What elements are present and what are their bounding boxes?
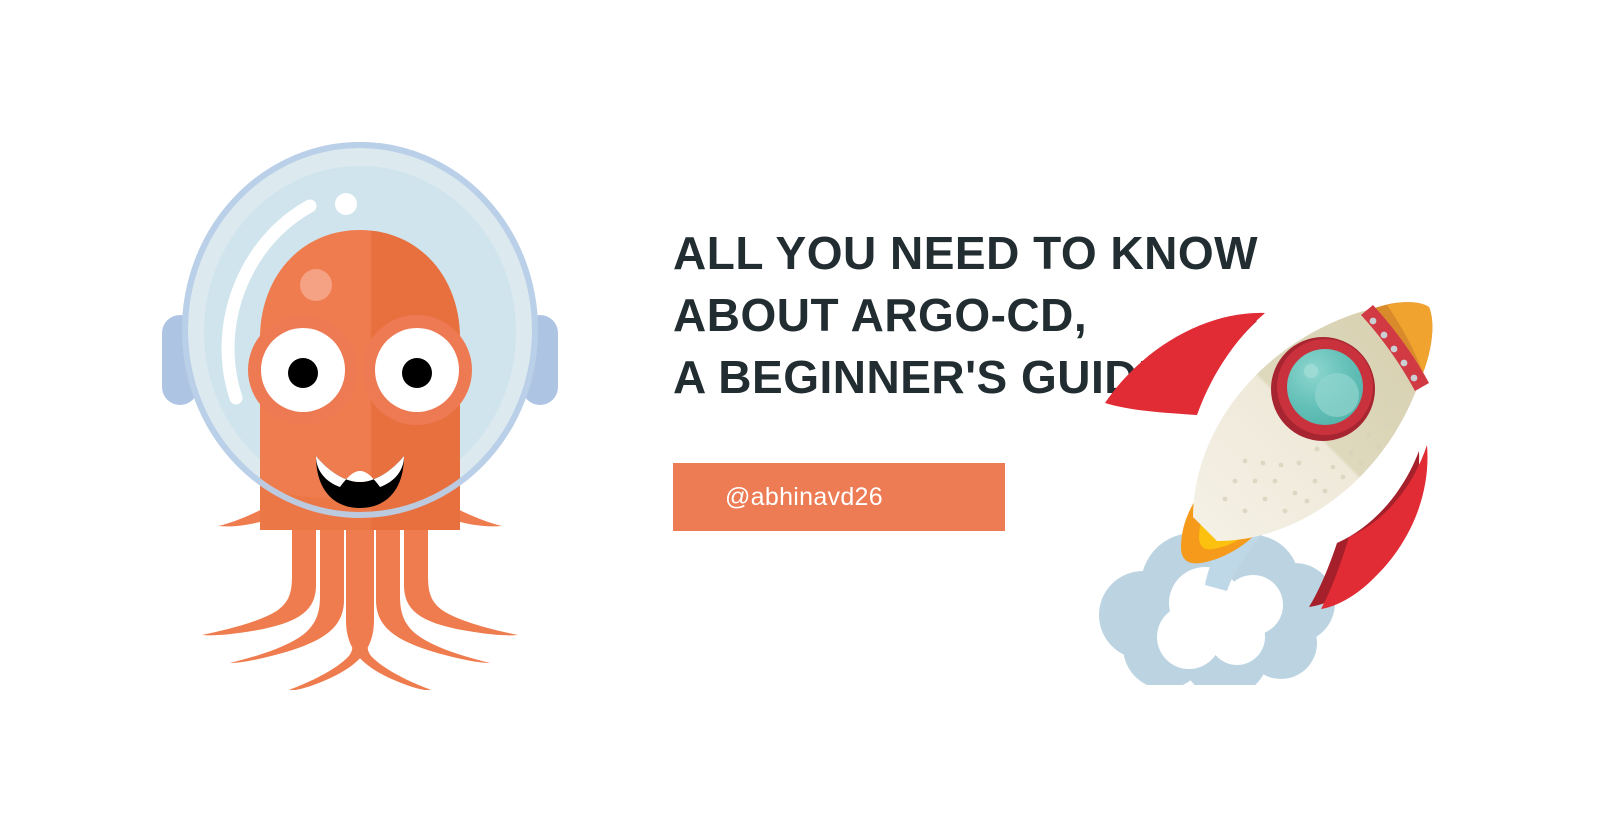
author-handle-badge[interactable]: @abhinavd26 bbox=[673, 463, 1005, 531]
blog-cover-canvas: ALL YOU NEED TO KNOW ABOUT ARGO-CD, A BE… bbox=[0, 0, 1600, 840]
octopus-eye-right-icon bbox=[362, 315, 472, 425]
rocket-porthole-icon bbox=[1271, 337, 1375, 441]
helmet-shine-dot-icon bbox=[335, 193, 357, 215]
octopus-eye-left-icon bbox=[248, 315, 358, 425]
argo-cd-octopus-astronaut-illustration bbox=[140, 130, 580, 690]
rocket-launch-illustration bbox=[1085, 285, 1505, 685]
author-handle-label: @abhinavd26 bbox=[725, 483, 883, 512]
octopus-head-highlight-icon bbox=[300, 269, 332, 301]
headline-line-1: ALL YOU NEED TO KNOW bbox=[673, 222, 1313, 284]
